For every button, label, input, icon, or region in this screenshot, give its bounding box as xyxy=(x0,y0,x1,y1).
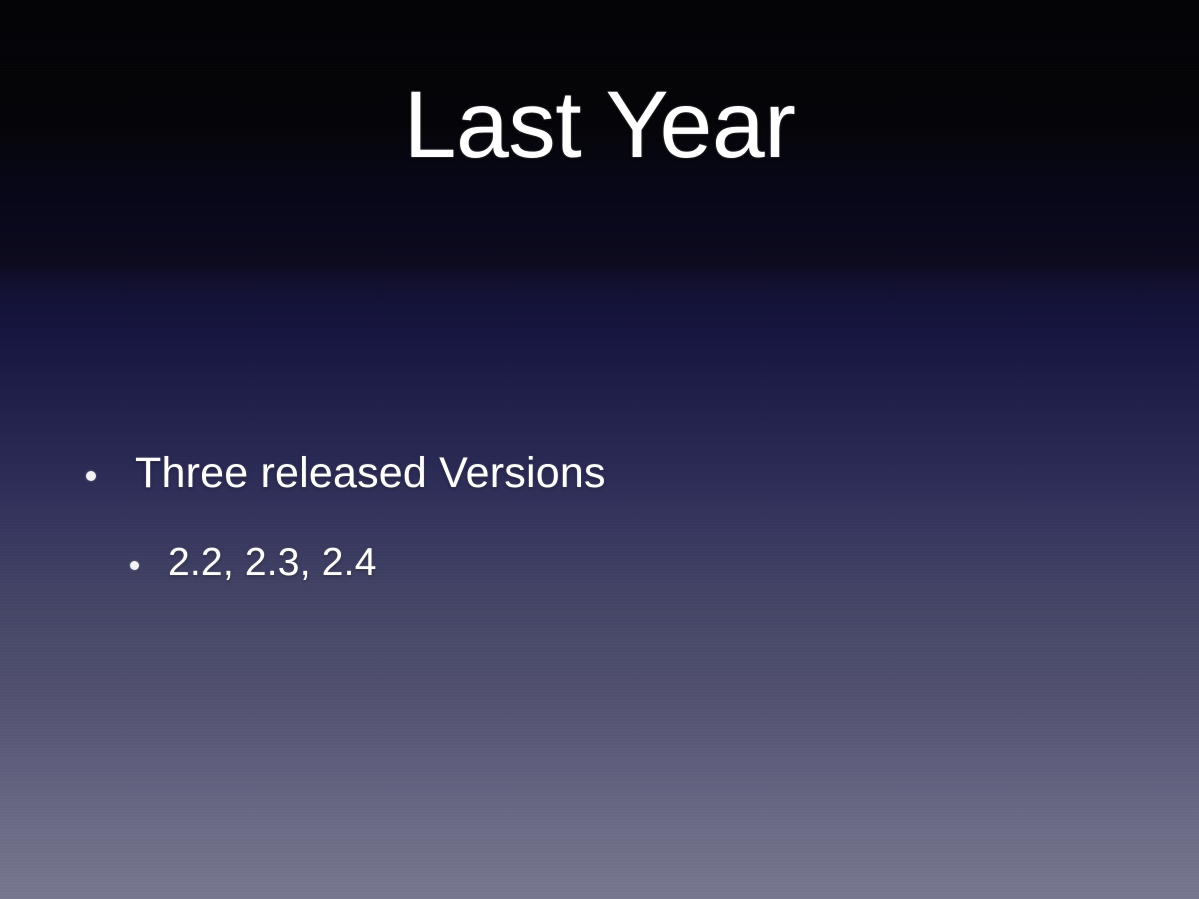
bullet-list: Three released Versions 2.2, 2.3, 2.4 xyxy=(0,452,1199,582)
bullet-item-primary: Three released Versions xyxy=(0,452,1199,495)
bullet-item-label: Three released Versions xyxy=(135,452,606,495)
round-bullet-icon xyxy=(130,561,139,570)
bullet-item-sub: 2.2, 2.3, 2.4 xyxy=(0,543,1199,582)
presentation-slide: Last Year Three released Versions 2.2, 2… xyxy=(0,0,1199,899)
bullet-item-label: 2.2, 2.3, 2.4 xyxy=(168,543,377,582)
round-bullet-icon xyxy=(86,471,96,481)
slide-content: Last Year Three released Versions 2.2, 2… xyxy=(0,0,1199,899)
slide-title: Last Year xyxy=(0,78,1199,173)
